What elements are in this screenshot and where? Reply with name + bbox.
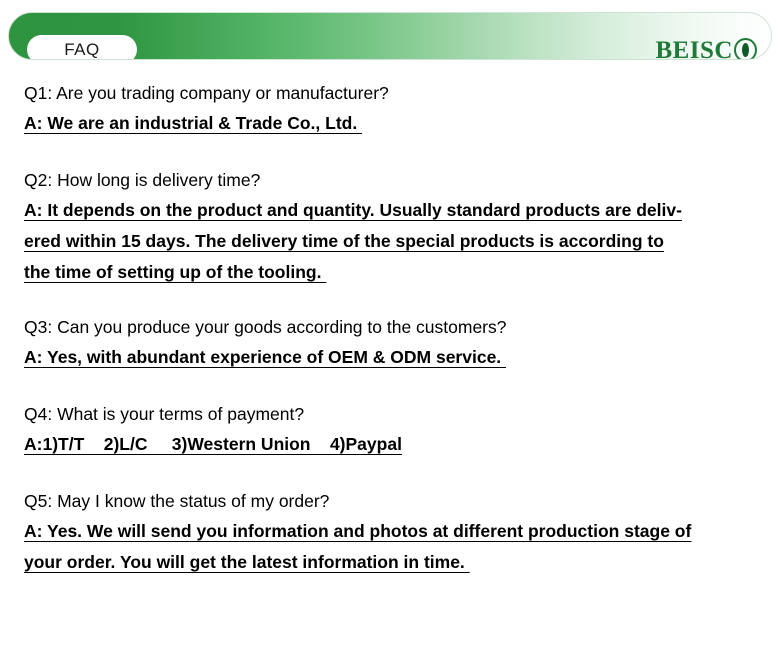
faq-answer-line: your order. You will get the latest info…	[24, 547, 764, 578]
faq-answer: A: Yes, with abundant experience of OEM …	[24, 342, 764, 373]
faq-question: Q2: How long is delivery time?	[24, 165, 764, 195]
faq-question: Q1: Are you trading company or manufactu…	[24, 78, 764, 108]
faq-answer-line: A: Yes, with abundant experience of OEM …	[24, 342, 764, 373]
faq-item: Q4: What is your terms of payment? A:1)T…	[24, 399, 764, 460]
faq-tab-label: FAQ	[64, 40, 100, 60]
faq-answer: A: Yes. We will send you information and…	[24, 516, 764, 578]
faq-answer-line: the time of setting up of the tooling.	[24, 257, 764, 288]
faq-answer-line: A: Yes. We will send you information and…	[24, 516, 764, 547]
faq-item: Q2: How long is delivery time? A: It dep…	[24, 165, 764, 288]
faq-content: Q1: Are you trading company or manufactu…	[24, 78, 764, 578]
faq-item: Q5: May I know the status of my order? A…	[24, 486, 764, 578]
faq-answer: A: We are an industrial & Trade Co., Ltd…	[24, 108, 764, 139]
brand-logo-text: BEISC	[655, 38, 733, 61]
faq-question: Q5: May I know the status of my order?	[24, 486, 764, 516]
faq-answer-line: A: We are an industrial & Trade Co., Ltd…	[24, 108, 764, 139]
faq-question: Q4: What is your terms of payment?	[24, 399, 764, 429]
faq-question: Q3: Can you produce your goods according…	[24, 312, 764, 342]
faq-page: FAQ BEISC Q1: Are you trading company or…	[0, 0, 780, 650]
faq-answer-line: ered within 15 days. The delivery time o…	[24, 226, 764, 257]
brand-logo-o-icon	[734, 38, 757, 60]
faq-item: Q3: Can you produce your goods according…	[24, 312, 764, 373]
faq-tab[interactable]: FAQ	[27, 35, 137, 60]
brand-logo: BEISC	[655, 35, 757, 60]
faq-answer-line: A: It depends on the product and quantit…	[24, 195, 764, 226]
faq-answer-line: A:1)T/T 2)L/C 3)Western Union 4)Paypal	[24, 429, 764, 460]
faq-item: Q1: Are you trading company or manufactu…	[24, 78, 764, 139]
faq-answer: A:1)T/T 2)L/C 3)Western Union 4)Paypal	[24, 429, 764, 460]
header-bar: FAQ BEISC	[8, 12, 772, 60]
faq-answer: A: It depends on the product and quantit…	[24, 195, 764, 288]
